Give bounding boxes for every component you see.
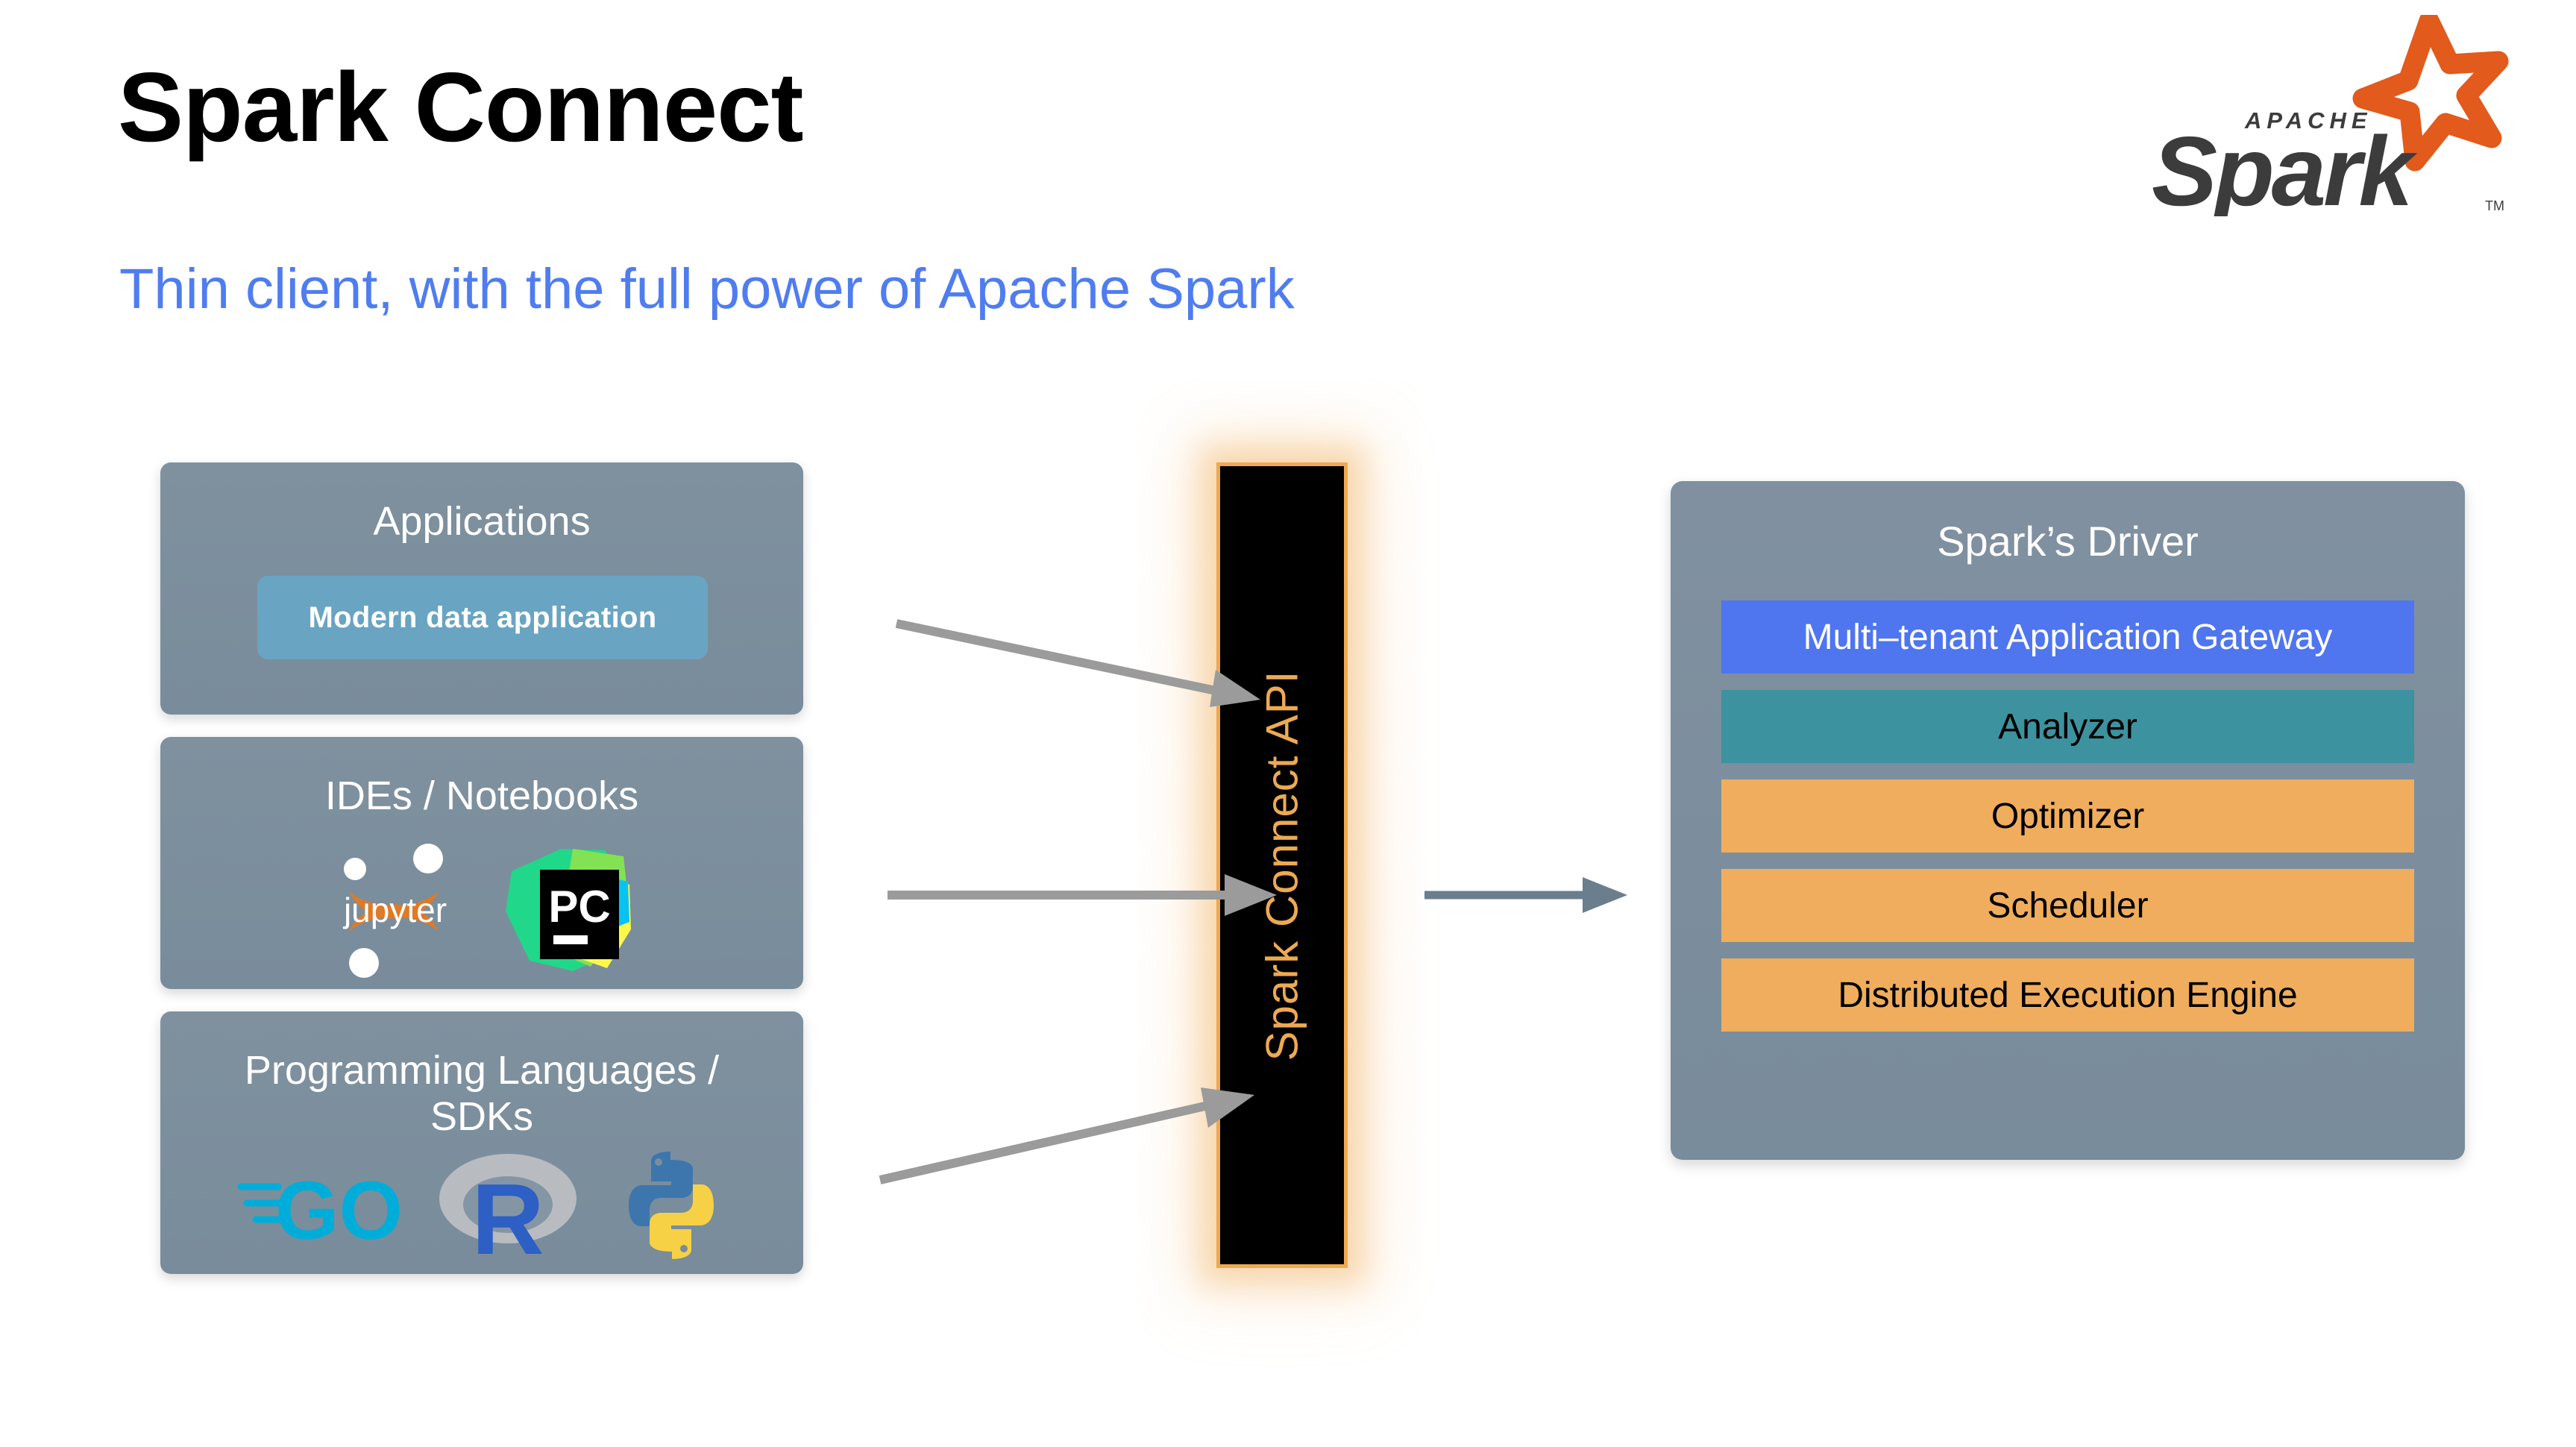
driver-row-execution-engine-label: Distributed Execution Engine <box>1838 975 2297 1016</box>
trademark-mark: TM <box>2485 198 2504 213</box>
language-logo-row: GO R <box>160 1146 803 1265</box>
panel-applications[interactable]: Applications Modern data application <box>160 462 803 715</box>
panel-sparks-driver[interactable]: Spark’s Driver Multi–tenant Application … <box>1671 481 2465 1160</box>
driver-row-gateway-label: Multi–tenant Application Gateway <box>1803 617 2333 658</box>
pycharm-logo: PC <box>501 840 632 978</box>
modern-data-application-label: Modern data application <box>309 601 657 635</box>
python-logo <box>615 1149 727 1262</box>
driver-row-analyzer[interactable]: Analyzer <box>1721 690 2414 763</box>
arrow-languages-to-api <box>873 1044 1305 1193</box>
driver-row-gateway[interactable]: Multi–tenant Application Gateway <box>1721 600 2414 674</box>
go-logo: GO <box>236 1157 400 1254</box>
driver-row-optimizer-label: Optimizer <box>1991 796 2144 837</box>
ide-logo-row: jupyter PC <box>160 841 803 976</box>
page-subtitle: Thin client, with the full power of Apac… <box>119 261 1295 318</box>
driver-row-scheduler-label: Scheduler <box>1987 885 2148 926</box>
driver-stage-list: Multi–tenant Application Gateway Analyze… <box>1721 600 2414 1032</box>
panel-ides-notebooks[interactable]: IDEs / Notebooks jupyter PC <box>160 737 803 989</box>
panel-programming-languages[interactable]: Programming Languages / SDKs GO R <box>160 1011 803 1274</box>
r-logo: R <box>433 1149 582 1261</box>
driver-row-optimizer[interactable]: Optimizer <box>1721 779 2414 853</box>
driver-row-analyzer-label: Analyzer <box>1998 706 2137 747</box>
panel-languages-title: Programming Languages / SDKs <box>160 1047 803 1140</box>
pycharm-wordmark: PC <box>548 882 610 932</box>
arrow-api-to-driver <box>1417 850 1671 940</box>
panel-ides-title: IDEs / Notebooks <box>160 773 803 819</box>
panel-applications-title: Applications <box>160 498 803 544</box>
page-title: Spark Connect <box>118 58 803 157</box>
sparks-driver-title: Spark’s Driver <box>1671 517 2465 565</box>
go-wordmark: GO <box>275 1165 400 1254</box>
jupyter-logo: jupyter <box>333 838 459 979</box>
r-wordmark: R <box>471 1163 544 1261</box>
modern-data-application-card[interactable]: Modern data application <box>257 576 708 659</box>
panel-languages-title-line2: SDKs <box>430 1094 533 1139</box>
spark-wordmark: Spark <box>2152 116 2417 216</box>
panel-languages-title-line1: Programming Languages / <box>245 1048 719 1093</box>
driver-row-scheduler[interactable]: Scheduler <box>1721 869 2414 942</box>
jupyter-wordmark: jupyter <box>342 891 446 929</box>
apache-spark-logo: APACHE Spark TM <box>2129 15 2517 216</box>
arrow-applications-to-api <box>888 612 1305 746</box>
driver-row-execution-engine[interactable]: Distributed Execution Engine <box>1721 958 2414 1032</box>
arrow-ides-to-api <box>880 850 1305 940</box>
